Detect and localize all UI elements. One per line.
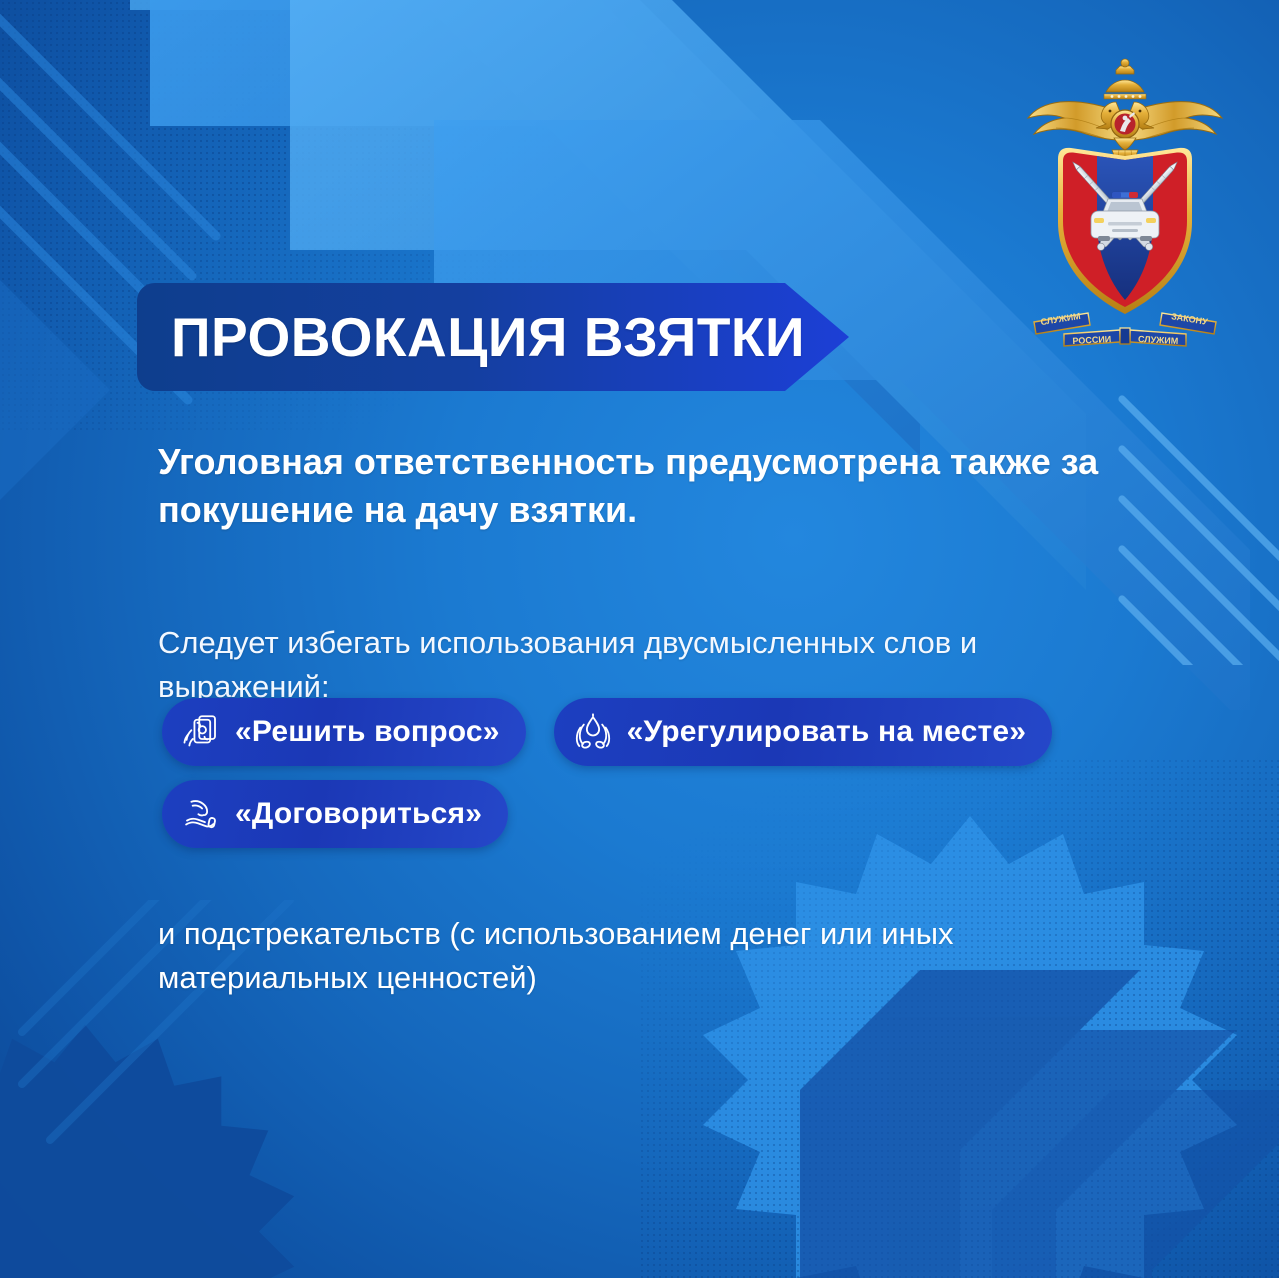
lead-paragraph: Уголовная ответственность предусмотрена … [158, 438, 1148, 533]
ribbon-text-sluzhim-2: СЛУЖИМ [1138, 334, 1179, 346]
chip-dogovoritsya[interactable]: «Договориться» [162, 780, 508, 848]
hand-with-money-card-icon [180, 711, 222, 753]
tail-paragraph: и подстрекательств (с использованием ден… [158, 912, 1158, 1000]
chip-row-1: «Решить вопрос» «Урегулировать на [162, 698, 1162, 766]
two-hands-holding-icon [572, 711, 614, 753]
poster-canvas: СЛУЖИМ ЗАКОНУ РОССИИ СЛУЖИМ ПРОВОКАЦИЯ В… [0, 0, 1279, 1278]
chip-label: «Решить вопрос» [235, 715, 500, 749]
hand-passing-money-icon [180, 793, 222, 835]
page-title: ПРОВОКАЦИЯ ВЗЯТКИ [171, 305, 805, 369]
police-shield-icon [1058, 148, 1192, 314]
chip-reshit-vopros[interactable]: «Решить вопрос» [162, 698, 526, 766]
mvd-gibdd-emblem: СЛУЖИМ ЗАКОНУ РОССИИ СЛУЖИМ [1020, 52, 1230, 352]
title-banner: ПРОВОКАЦИЯ ВЗЯТКИ [137, 283, 849, 391]
ribbon-text-rossii: РОССИИ [1072, 334, 1111, 346]
chip-uregulirovat-na-meste[interactable]: «Урегулировать на месте» [554, 698, 1053, 766]
phrase-chip-group: «Решить вопрос» «Урегулировать на [162, 698, 1162, 862]
chip-label: «Договориться» [235, 797, 482, 831]
starburst-bottom-left-icon [0, 1020, 320, 1278]
tail-block: и подстрекательств (с использованием ден… [158, 912, 1158, 1000]
chip-row-2: «Договориться» [162, 780, 1162, 848]
double-headed-eagle-icon [1028, 59, 1222, 158]
chip-label: «Урегулировать на месте» [627, 715, 1027, 749]
starburst-bottom-right-icon [640, 810, 1279, 1278]
poster-content: Уголовная ответственность предусмотрена … [158, 438, 1148, 709]
intro-paragraph: Следует избегать использования двусмысле… [158, 533, 1148, 709]
motto-ribbon: СЛУЖИМ ЗАКОНУ РОССИИ СЛУЖИМ [1034, 311, 1216, 346]
